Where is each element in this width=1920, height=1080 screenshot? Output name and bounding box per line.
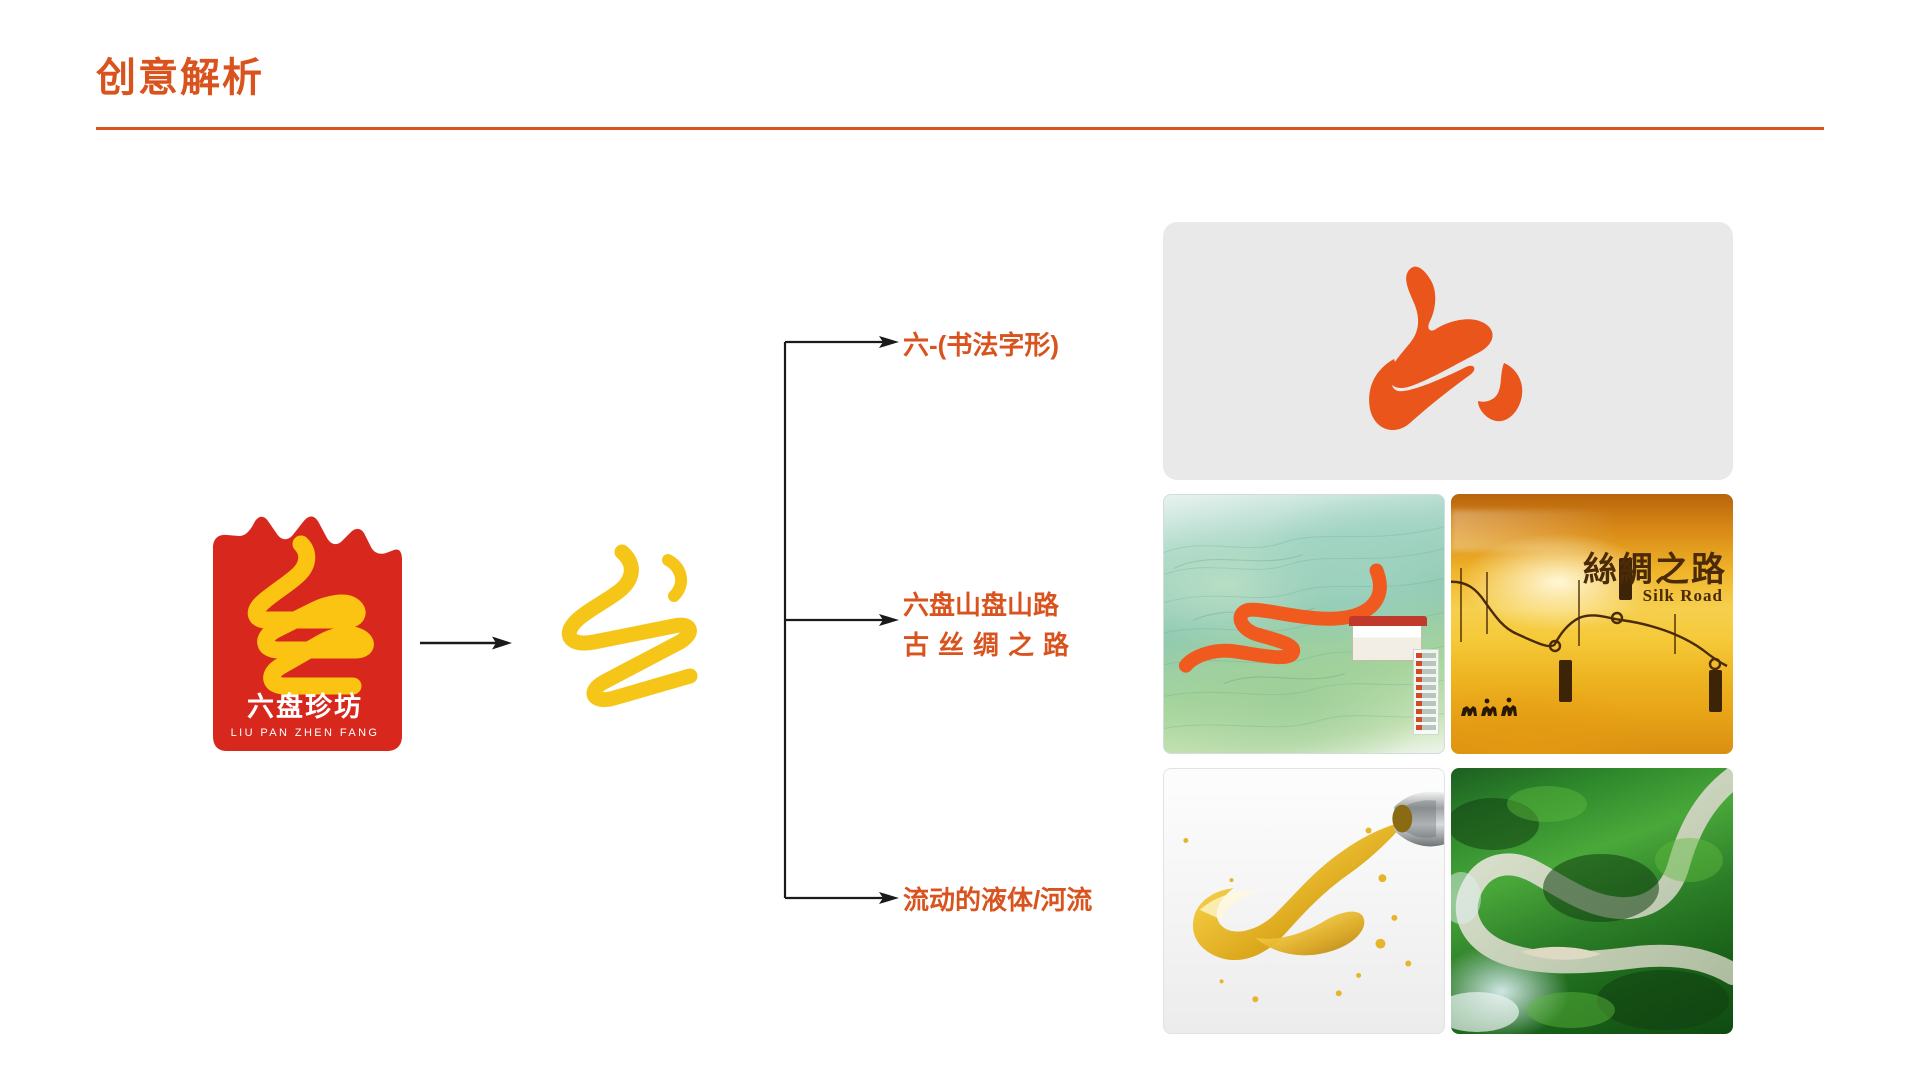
media-column: 絲綢之路 Silk Road (1163, 222, 1733, 1034)
camel-caravan-icon (1457, 696, 1529, 720)
title-divider (96, 127, 1824, 130)
silk-road-tablet-2 (1559, 660, 1572, 702)
calligraphy-card (1163, 222, 1733, 480)
logo-name-pinyin: LIU PAN ZHEN FANG (231, 727, 380, 739)
thumbnail-silk-road: 絲綢之路 Silk Road (1451, 494, 1733, 754)
branch-label-roads: 六盘山盘山路 古丝绸之路 (903, 585, 1078, 666)
map-legend (1413, 649, 1439, 735)
branch-label-roads-line2: 古丝绸之路 (903, 625, 1078, 665)
thumbnail-oil-pour (1163, 768, 1445, 1034)
page-title: 创意解析 (96, 58, 264, 98)
thumbnail-river-aerial (1451, 768, 1733, 1034)
branch-label-roads-line1: 六盘山盘山路 (903, 585, 1078, 625)
logo-name-cn: 六盘珍坊 (247, 691, 363, 722)
branch-label-calligraphy: 六-(书法字形) (903, 325, 1059, 365)
media-row-roads: 絲綢之路 Silk Road (1163, 494, 1733, 754)
branch-label-liquid: 流动的液体/河流 (903, 880, 1092, 920)
gold-brand-mark (550, 540, 720, 720)
map-pavilion-marker (1352, 623, 1422, 661)
media-row-liquid (1163, 768, 1733, 1034)
silk-road-title-cn: 絲綢之路 (1583, 542, 1727, 591)
silk-road-tablet-3 (1709, 670, 1722, 712)
branch-connector (775, 320, 905, 920)
calligraphy-liu-glyph (1298, 251, 1598, 451)
transform-arrow (420, 634, 512, 652)
silk-road-title-en: Silk Road (1643, 586, 1723, 606)
brand-logo-badge: 六盘珍坊 LIU PAN ZHEN FANG (205, 508, 405, 755)
thumbnail-mountain-map (1163, 494, 1445, 754)
